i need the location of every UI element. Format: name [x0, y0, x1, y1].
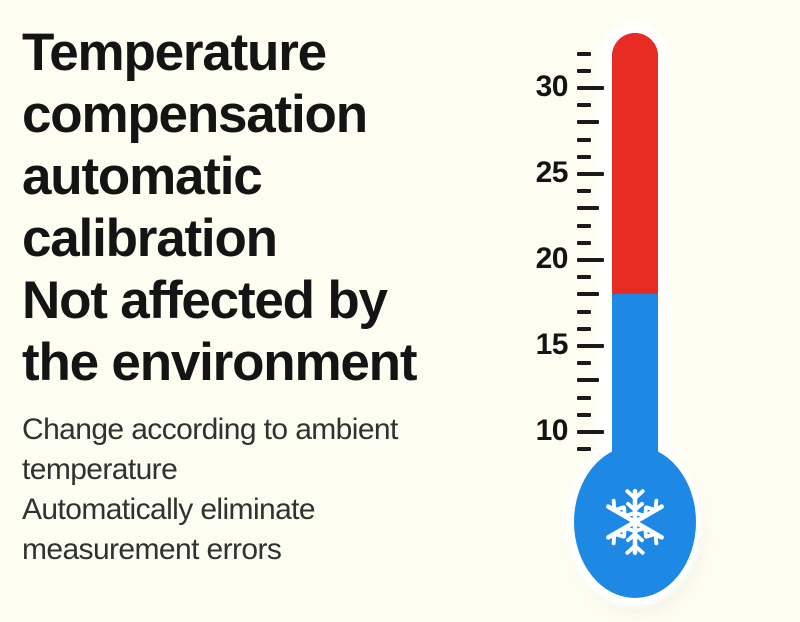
thermometer-graphic: 3025201510 — [520, 0, 800, 622]
scale-tick-major — [577, 86, 604, 90]
scale-tick-minor — [577, 206, 599, 210]
scale-tick-major — [577, 430, 604, 434]
scale-tick-minor — [577, 292, 599, 296]
page-subtitle: Change according to ambient temperature … — [22, 410, 522, 570]
scale-tick-minor — [577, 120, 599, 124]
subcopy-line-1: Change according to ambient — [22, 410, 522, 450]
headline-line-5: Not affected by — [22, 270, 522, 332]
scale-label-30: 30 — [536, 72, 568, 102]
scale-label-10: 10 — [536, 416, 568, 446]
subcopy-line-2: temperature — [22, 450, 522, 490]
scale-tick-minor — [577, 361, 591, 365]
scale-tick-minor — [577, 155, 591, 159]
scale-tick-minor — [577, 327, 591, 331]
headline-line-6: the environment — [22, 332, 522, 394]
scale-label-20: 20 — [536, 244, 568, 274]
scale-label-25: 25 — [536, 158, 568, 188]
scale-tick-minor — [577, 447, 591, 451]
subcopy-line-4: measurement errors — [22, 530, 522, 570]
scale-tick-minor — [577, 103, 591, 107]
scale-tick-minor — [577, 275, 591, 279]
scale-tick-minor — [577, 396, 591, 400]
scale-tick-minor — [577, 52, 591, 56]
poster-canvas: Temperature compensation automatic calib… — [0, 0, 800, 622]
headline-line-2: compensation — [22, 84, 522, 146]
subcopy-line-3: Automatically eliminate — [22, 490, 522, 530]
scale-tick-major — [577, 258, 604, 262]
scale-tick-major — [577, 344, 604, 348]
scale-tick-minor — [577, 241, 591, 245]
headline-line-3: automatic — [22, 146, 522, 208]
scale-tick-minor — [577, 378, 599, 382]
scale-tick-minor — [577, 138, 591, 142]
scale-tick-minor — [577, 413, 591, 417]
page-title: Temperature compensation automatic calib… — [22, 22, 522, 394]
headline-line-1: Temperature — [22, 22, 522, 84]
scale-tick-minor — [577, 224, 591, 228]
scale-tick-minor — [577, 310, 591, 314]
scale-tick-major — [577, 172, 604, 176]
headline-line-4: calibration — [22, 208, 522, 270]
thermometer-scale: 3025201510 — [520, 0, 800, 520]
scale-tick-minor — [577, 189, 591, 193]
text-panel: Temperature compensation automatic calib… — [22, 22, 522, 570]
scale-label-15: 15 — [536, 330, 568, 360]
scale-tick-minor — [577, 69, 591, 73]
